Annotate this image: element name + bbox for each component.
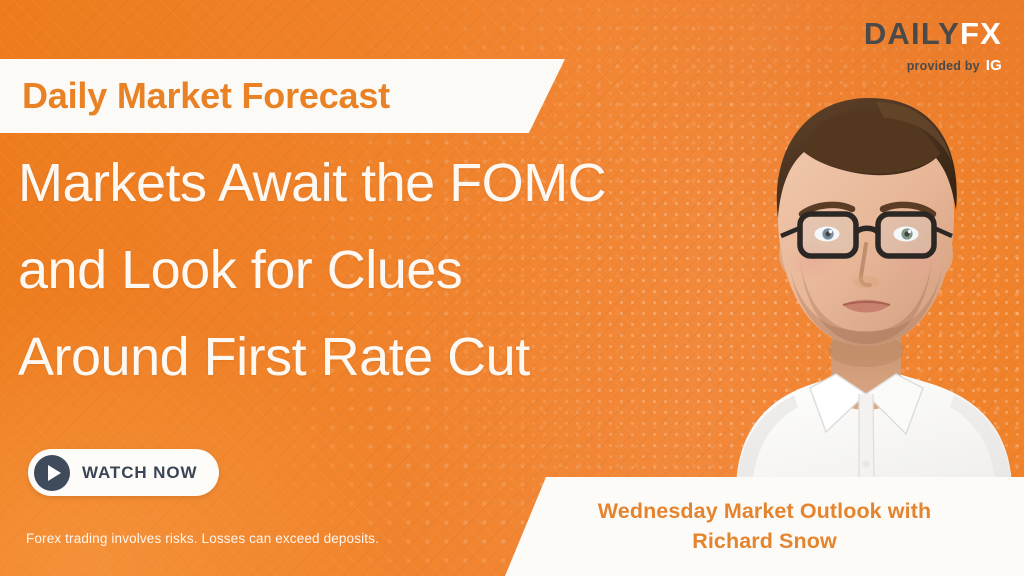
logo-daily-text: DAILY bbox=[864, 16, 960, 51]
series-ribbon: Daily Market Forecast bbox=[0, 59, 565, 133]
logo-tagline: provided byIG bbox=[864, 58, 1002, 73]
dailyfx-logo: DAILYFX provided byIG bbox=[864, 18, 1002, 73]
episode-title: Wednesday Market Outlook with bbox=[598, 497, 931, 526]
episode-banner: Wednesday Market Outlook with Richard Sn… bbox=[505, 477, 1024, 576]
presenter-name: Richard Snow bbox=[692, 527, 837, 556]
headline-line-1: Markets Await the FOMC bbox=[18, 156, 718, 210]
watch-now-label: WATCH NOW bbox=[82, 463, 197, 483]
watch-now-button[interactable]: WATCH NOW bbox=[28, 449, 219, 496]
risk-disclaimer: Forex trading involves risks. Losses can… bbox=[26, 531, 379, 546]
video-thumbnail: DAILYFX provided byIG Daily Market Forec… bbox=[0, 0, 1024, 576]
headline: Markets Await the FOMC and Look for Clue… bbox=[18, 156, 718, 384]
play-triangle bbox=[48, 465, 61, 481]
series-title: Daily Market Forecast bbox=[22, 75, 390, 117]
logo-fx-text: FX bbox=[960, 16, 1002, 51]
logo-ig-text: IG bbox=[986, 57, 1002, 74]
logo-tagline-text: provided by bbox=[907, 59, 980, 73]
logo-wordmark: DAILYFX bbox=[864, 18, 1002, 49]
play-icon[interactable] bbox=[34, 455, 70, 491]
headline-line-2: and Look for Clues bbox=[18, 243, 718, 297]
headline-line-3: Around First Rate Cut bbox=[18, 330, 718, 384]
